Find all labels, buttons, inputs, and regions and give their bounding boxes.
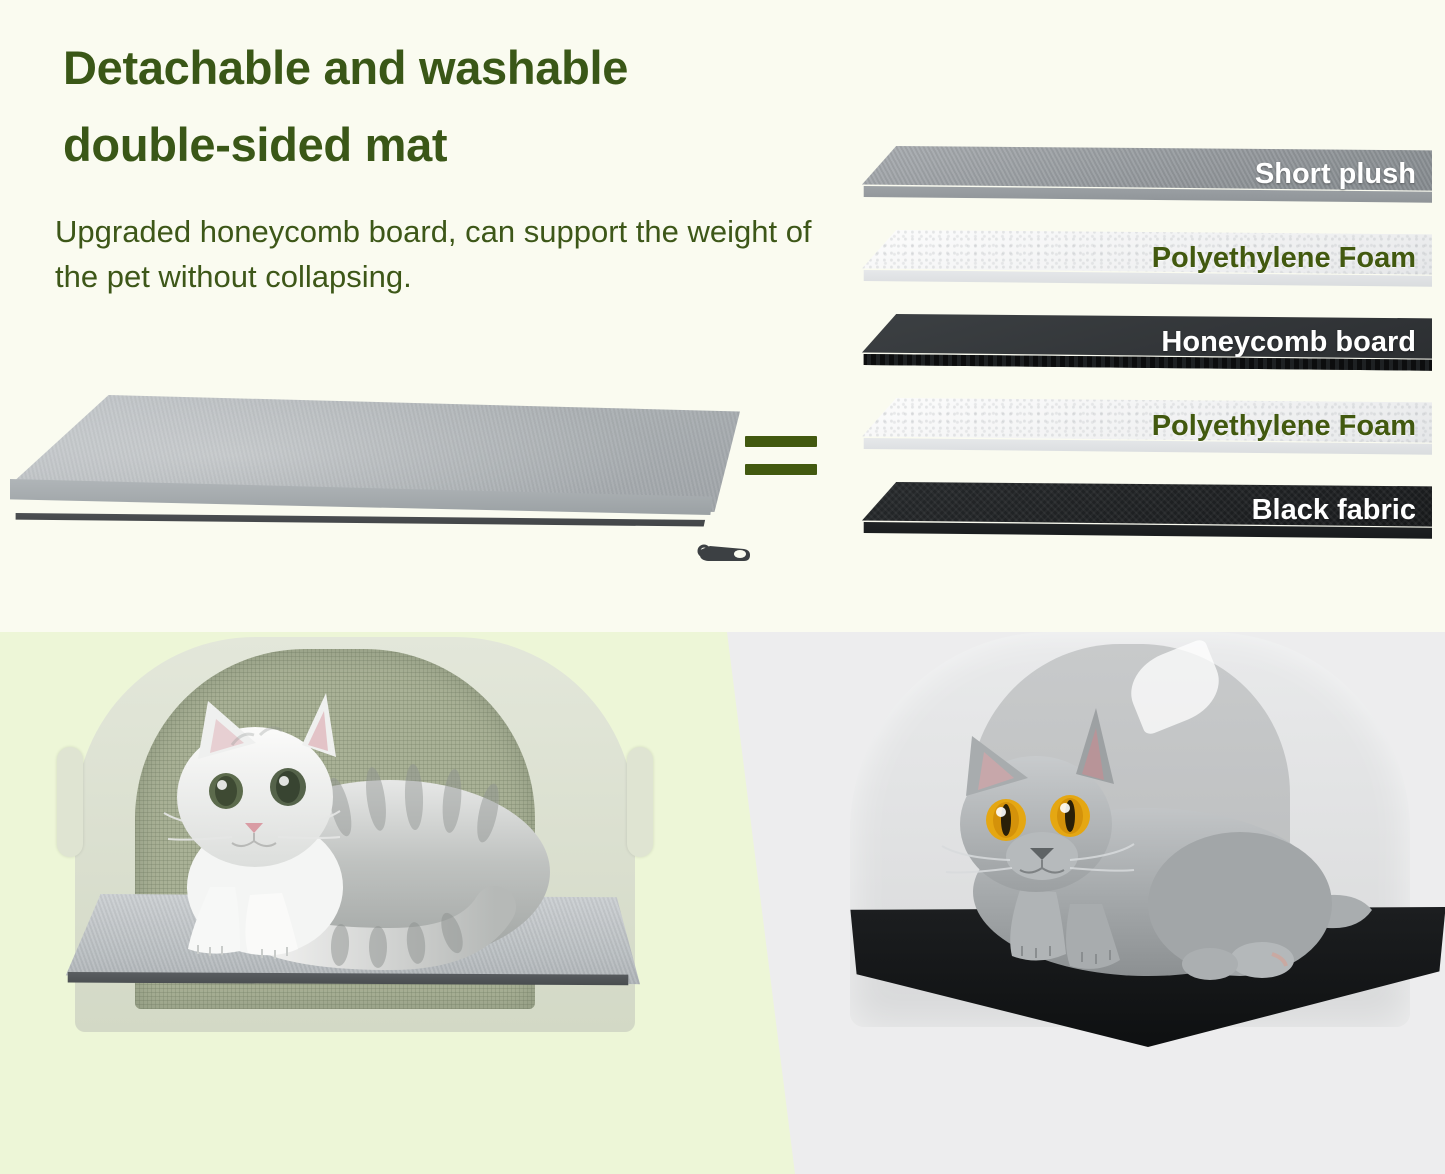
equals-bar-top xyxy=(745,436,817,447)
layer-short-plush: Short plush xyxy=(862,146,1432,238)
layer-label: Black fabric xyxy=(1252,494,1416,527)
headline-line-1: Detachable and washable xyxy=(57,36,634,97)
silver-tabby-cat-image xyxy=(90,687,610,987)
equals-sign-icon xyxy=(745,436,835,492)
subheading-text: Upgraded honeycomb board, can support th… xyxy=(55,210,815,300)
layer-polyethylene-foam-top: Polyethylene Foam xyxy=(862,230,1432,322)
headline-line-2: double-sided mat xyxy=(57,113,453,174)
headline-line-1-text: Detachable and washable xyxy=(63,41,628,94)
layer-label: Polyethylene Foam xyxy=(1152,410,1416,443)
product-mat-image xyxy=(10,395,770,595)
headline: Detachable and washable double-sided mat xyxy=(57,36,867,190)
layer-label: Short plush xyxy=(1255,158,1416,191)
layer-polyethylene-foam-bottom: Polyethylene Foam xyxy=(862,398,1432,490)
headline-line-2-text: double-sided mat xyxy=(63,118,447,171)
layer-label: Honeycomb board xyxy=(1161,326,1416,359)
mat-bottom-edge xyxy=(12,513,734,543)
layer-edge xyxy=(862,186,1432,224)
equals-bar-bottom xyxy=(745,464,817,475)
product-infographic: Detachable and washable double-sided mat… xyxy=(0,0,1445,1174)
layer-edge xyxy=(862,438,1432,476)
comparison-section: VS Honeycomb board PP board xyxy=(0,632,1445,1174)
layer-label: Polyethylene Foam xyxy=(1152,242,1416,275)
carrier-strap-right xyxy=(627,747,653,857)
layer-edge xyxy=(862,270,1432,308)
gray-cat-image xyxy=(870,692,1390,992)
top-section: Detachable and washable double-sided mat… xyxy=(0,0,1445,632)
layer-stack-diagram: Short plush Polyethylene Foam Honeycomb … xyxy=(862,146,1437,582)
layer-black-fabric: Black fabric xyxy=(862,482,1432,574)
zipper-pull-icon xyxy=(692,536,752,570)
layer-edge xyxy=(862,522,1432,560)
layer-edge-corrugated xyxy=(862,354,1432,392)
layer-honeycomb-board: Honeycomb board xyxy=(862,314,1432,406)
carrier-strap-left xyxy=(57,747,83,857)
